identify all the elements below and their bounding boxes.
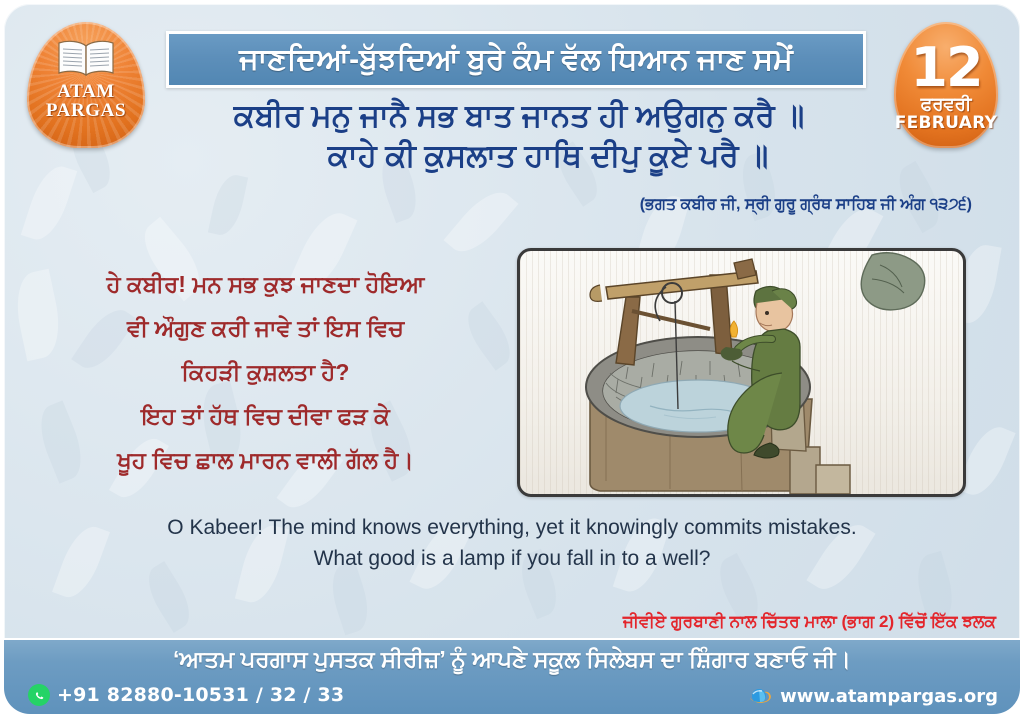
explanation-line: ਇਹ ਤਾਂ ਹੱਥ ਵਿਚ ਦੀਵਾ ਫੜ ਕੇ [38,394,493,438]
verse-line-2: ਕਾਹੇ ਕੀ ਕੁਸਲਾਤ ਹਾਥਿ ਦੀਪੁ ਕੂਏ ਪਰੈ ॥ [154,136,884,176]
english-translation: O Kabeer! The mind knows everything, yet… [64,512,960,574]
footer-bar: ‘ਆਤਮ ਪਰਗਾਸ ਪੁਸਤਕ ਸੀਰੀਜ਼’ ਨੂੰ ਆਪਣੇ ਸਕੂਲ ਸ… [4,638,1020,714]
browser-globe-icon [748,684,772,708]
english-line-2: What good is a lamp if you fall in to a … [64,543,960,574]
logo-line-2: PARGAS [46,101,126,120]
gurbani-verse: ਕਬੀਰ ਮਨੁ ਜਾਨੈ ਸਭ ਬਾਤ ਜਾਨਤ ਹੀ ਅਉਗਨੁ ਕਰੈ ॥… [154,96,884,176]
well-illustration [517,248,966,497]
english-line-1: O Kabeer! The mind knows everything, yet… [64,512,960,543]
header-title-bar: ਜਾਣਦਿਆਂ-ਬੁੱਝਦਿਆਂ ਬੁਰੇ ਕੰਮ ਵੱਲ ਧਿਆਨ ਜਾਣ ਸ… [166,31,866,88]
website-url: www.atampargas.org [780,686,998,707]
date-month-punjabi: ਫਰਵਰੀ [921,94,972,114]
series-caption: ਜੀਵੀਏ ਗੁਰਬਾਣੀ ਨਾਲ ਚਿੱਤਰ ਮਾਲਾ (ਭਾਗ 2) ਵਿੱ… [623,612,996,632]
poster-root: ATAM PARGAS 12 ਫਰਵਰੀ FEBRUARY ਜਾਣਦਿਆਂ-ਬੁ… [0,0,1024,718]
open-book-icon [54,38,118,78]
logo-line-1: ATAM [57,82,115,101]
footer-headline: ‘ਆਤਮ ਪਰਗਾਸ ਪੁਸਤਕ ਸੀਰੀਜ਼’ ਨੂੰ ਆਪਣੇ ਸਕੂਲ ਸ… [4,646,1020,673]
phone-number: +91 82880-10531 / 32 / 33 [57,684,344,706]
contact-phone[interactable]: +91 82880-10531 / 32 / 33 [28,684,344,706]
verse-citation: (ਭਗਤ ਕਬੀਰ ਜੀ, ਸ੍ਰੀ ਗੁਰੂ ਗ੍ਰੰਥ ਸਾਹਿਬ ਜੀ ਅ… [4,196,972,214]
explanation-line: ਵੀ ਔਗੁਣ ਕਰੀ ਜਾਵੇ ਤਾਂ ਇਸ ਵਿਚ [38,306,493,350]
verse-line-1: ਕਬੀਰ ਮਨੁ ਜਾਨੈ ਸਭ ਬਾਤ ਜਾਨਤ ਹੀ ਅਉਗਨੁ ਕਰੈ ॥ [154,96,884,136]
leaf-decoration [861,253,925,310]
date-day: 12 [910,44,981,92]
explanation-line: ਹੇ ਕਬੀਰ! ਮਨ ਸਭ ਕੁਝ ਜਾਣਦਾ ਹੋਇਆ [38,262,493,306]
page-title: ਜਾਣਦਿਆਂ-ਬੁੱਝਦਿਆਂ ਬੁਰੇ ਕੰਮ ਵੱਲ ਧਿਆਨ ਜਾਣ ਸ… [239,43,793,77]
date-month-english: FEBRUARY [895,114,998,132]
poster-card: ATAM PARGAS 12 ਫਰਵਰੀ FEBRUARY ਜਾਣਦਿਆਂ-ਬੁ… [4,4,1020,714]
whatsapp-icon [28,684,50,706]
punjabi-explanation: ਹੇ ਕਬੀਰ! ਮਨ ਸਭ ਕੁਝ ਜਾਣਦਾ ਹੋਇਆ ਵੀ ਔਗੁਣ ਕਰ… [38,262,493,482]
website-link[interactable]: www.atampargas.org [748,684,998,708]
explanation-line: ਖੂਹ ਵਿਚ ਛਾਲ ਮਾਰਨ ਵਾਲੀ ਗੱਲ ਹੈ। [38,438,493,482]
explanation-line: ਕਿਹੜੀ ਕੁਸ਼ਲਤਾ ਹੈ? [38,350,493,394]
